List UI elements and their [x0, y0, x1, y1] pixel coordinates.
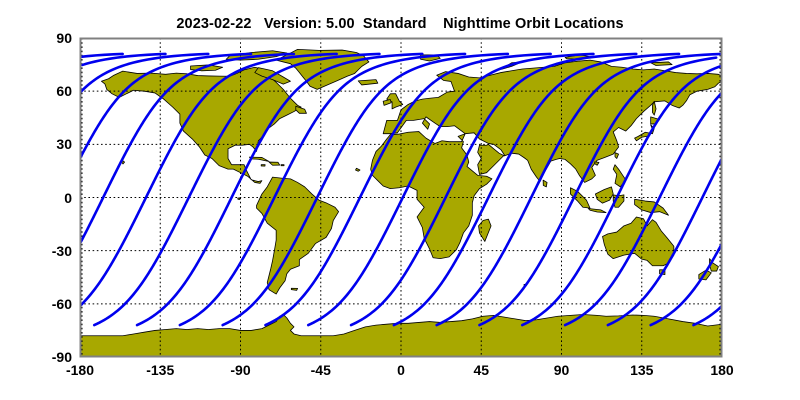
y-tick-label: 90: [20, 30, 72, 46]
y-tick-label: 0: [20, 190, 72, 206]
land-polygon: [238, 198, 240, 200]
x-tick-label: 90: [554, 362, 570, 378]
land-polygon: [281, 165, 284, 166]
x-tick-label: -45: [311, 362, 331, 378]
orbit-map-figure: 2023-02-22 Version: 5.00 Standard Nightt…: [0, 0, 800, 400]
x-tick-label: 0: [397, 362, 405, 378]
x-tick-label: 135: [630, 362, 653, 378]
y-tick-label: 30: [20, 136, 72, 152]
land-polygon: [261, 165, 265, 166]
x-tick-label: 45: [473, 362, 489, 378]
x-tick-label: -180: [66, 362, 94, 378]
y-tick-label: 60: [20, 83, 72, 99]
orbit-map-plot: [0, 0, 800, 400]
x-tick-label: -90: [230, 362, 250, 378]
y-tick-label: -60: [20, 296, 72, 312]
y-tick-label: -30: [20, 243, 72, 259]
land-polygon: [291, 288, 297, 290]
x-tick-label: 180: [710, 362, 733, 378]
x-tick-label: -135: [146, 362, 174, 378]
y-tick-label: -90: [20, 349, 72, 365]
